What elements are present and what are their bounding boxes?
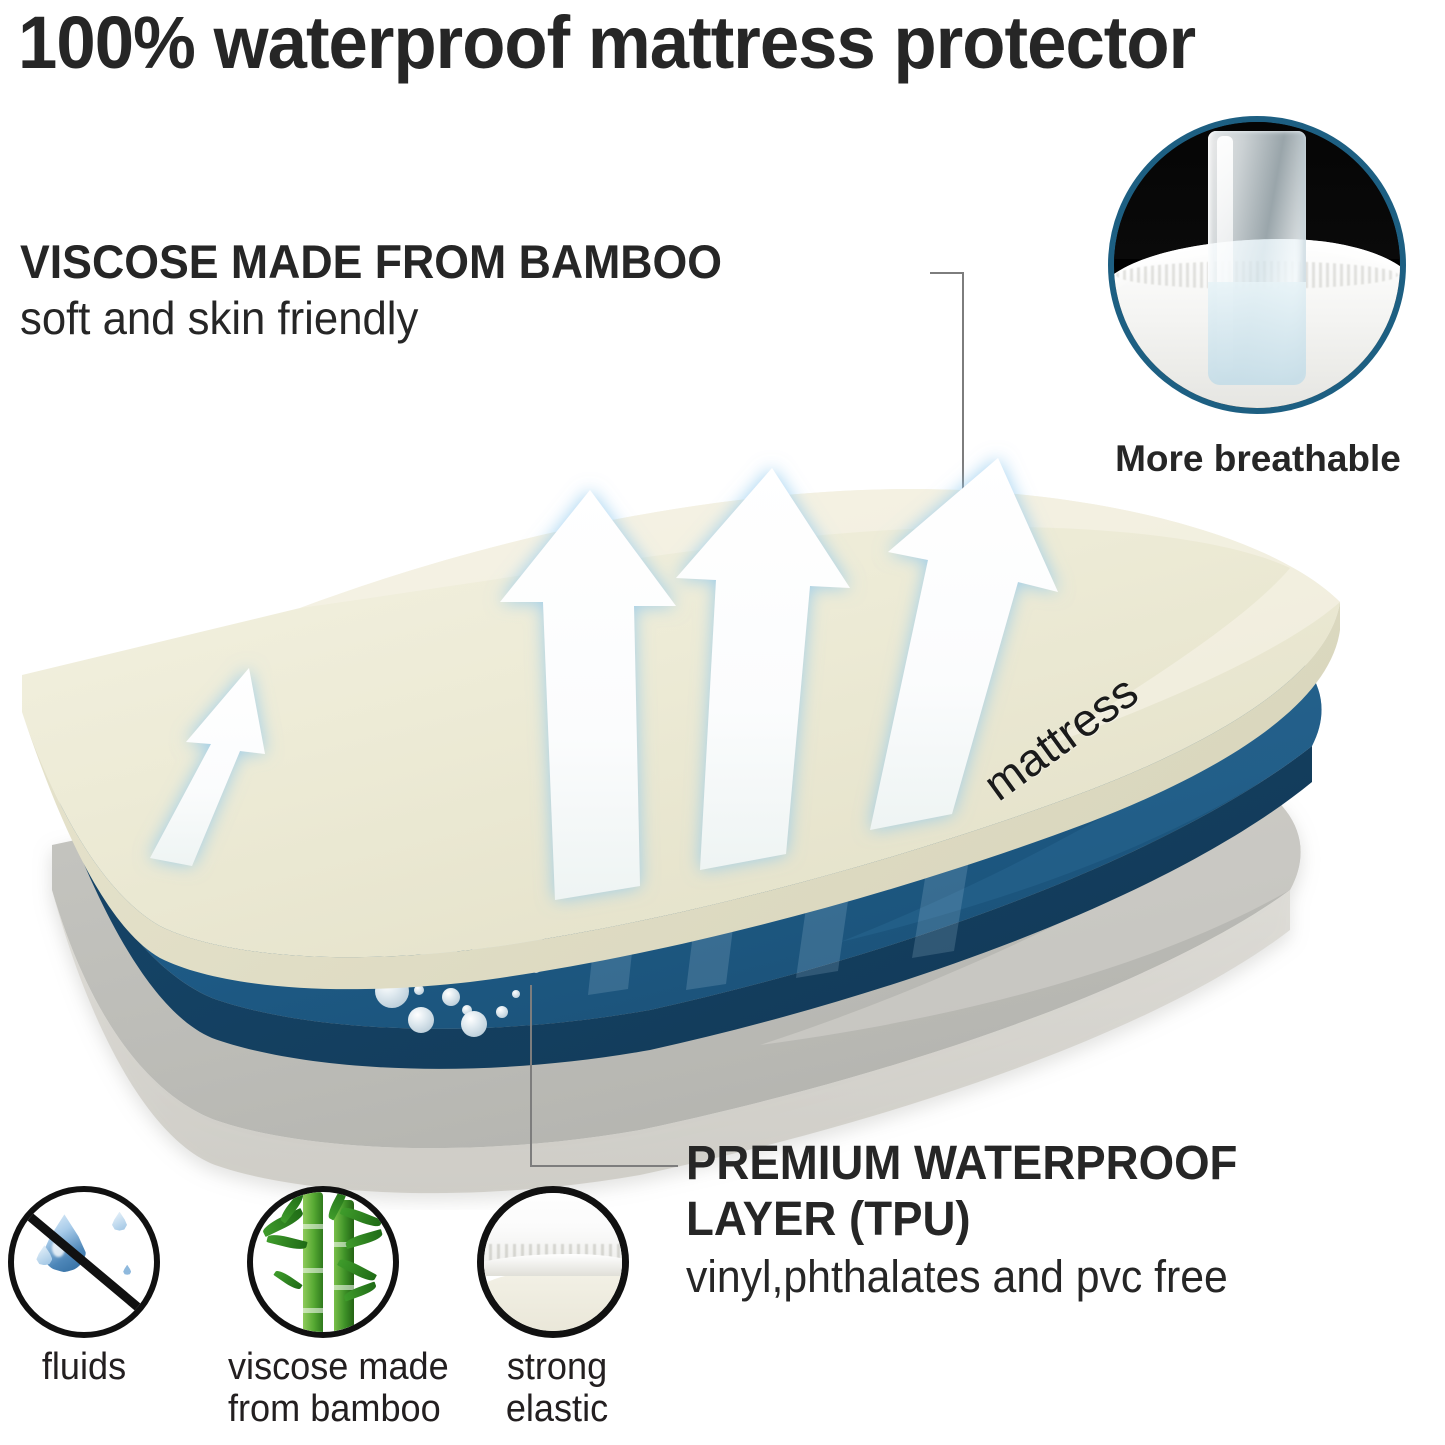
feature-badge-elastic-caption-line2: elastic	[506, 1388, 608, 1430]
callout-tpu-title-line1: PREMIUM WATERPROOF	[686, 1136, 1400, 1192]
feature-badge-elastic-caption-line1: strong	[507, 1346, 607, 1388]
leader-line-bamboo-horizontal	[930, 272, 964, 274]
callout-tpu-subtitle: vinyl,phthalates and pvc free	[686, 1248, 1400, 1306]
bamboo-icon	[247, 1186, 399, 1338]
water-drop-small-top	[112, 1212, 127, 1231]
callout-viscose-bamboo-title: VISCOSE MADE FROM BAMBOO	[20, 234, 894, 289]
feature-badge-elastic: strong elastic	[477, 1186, 637, 1430]
leader-line-tpu-vertical	[530, 985, 532, 1167]
feature-badge-fluids-caption: fluids	[12, 1346, 156, 1388]
water-drop-tiny-right	[123, 1265, 131, 1275]
feature-badge-fluids: fluids	[8, 1186, 160, 1388]
leader-line-tpu-horizontal	[530, 1165, 678, 1167]
bamboo-stalk-left	[303, 1192, 323, 1338]
no-fluids-icon	[8, 1186, 160, 1338]
callout-tpu-title-line2: LAYER (TPU)	[686, 1192, 1400, 1248]
layered-cutaway-illustration	[0, 330, 1445, 1210]
callout-waterproof-tpu: PREMIUM WATERPROOF LAYER (TPU) vinyl,pht…	[686, 1136, 1438, 1306]
prohibition-slash	[14, 1202, 155, 1322]
layers-svg	[0, 330, 1445, 1210]
product-infographic: 100% waterproof mattress protector VISCO…	[0, 0, 1445, 1445]
page-title: 100% waterproof mattress protector	[18, 4, 1365, 82]
feature-badge-bamboo-caption-line2: from bamboo	[228, 1388, 441, 1430]
elastic-sheet-icon	[477, 1186, 629, 1338]
feature-badge-bamboo: viscose made from bamboo	[247, 1186, 423, 1430]
feature-badge-row: fluids viscose made	[0, 1186, 645, 1445]
feature-badge-bamboo-caption-line1: viscose made	[228, 1346, 449, 1388]
sheet-mattress-surface	[477, 1268, 629, 1338]
